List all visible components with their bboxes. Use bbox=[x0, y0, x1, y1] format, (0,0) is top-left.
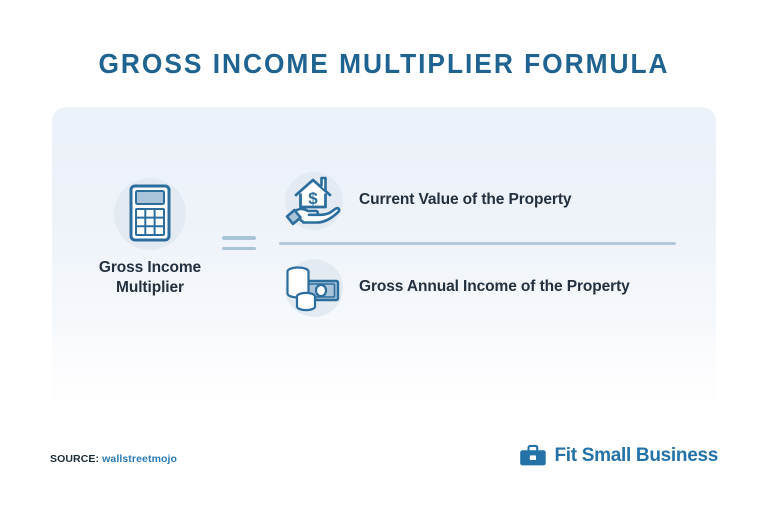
formula-left-term: Gross Income Multiplier bbox=[75, 178, 225, 299]
left-term-label-line2: Multiplier bbox=[75, 278, 225, 298]
denominator-label: Gross Annual Income of the Property bbox=[359, 278, 630, 296]
fraction-numerator: $ Current Value of the Property bbox=[279, 160, 679, 240]
money-coins-icon bbox=[279, 253, 347, 321]
house-in-hand-icon: $ bbox=[279, 166, 347, 234]
fraction-bar bbox=[279, 242, 676, 245]
brand-name: Fit Small Business bbox=[554, 445, 718, 467]
source-label: SOURCE: bbox=[50, 453, 99, 465]
calculator-icon bbox=[114, 178, 186, 250]
equals-bar-top bbox=[222, 236, 256, 240]
source-attribution: SOURCE:wallstreetmojo bbox=[50, 453, 177, 465]
equals-sign bbox=[222, 236, 256, 250]
formula-fraction: $ Current Value of the Property bbox=[279, 160, 679, 327]
briefcase-icon bbox=[518, 443, 548, 469]
formula-left-term-label: Gross Income Multiplier bbox=[75, 258, 225, 299]
numerator-label: Current Value of the Property bbox=[359, 191, 571, 209]
page-title: GROSS INCOME MULTIPLIER FORMULA bbox=[23, 48, 745, 80]
svg-text:$: $ bbox=[308, 189, 318, 208]
brand-logo[interactable]: Fit Small Business bbox=[518, 443, 718, 469]
left-term-label-line1: Gross Income bbox=[75, 258, 225, 278]
fraction-denominator: Gross Annual Income of the Property bbox=[279, 247, 679, 327]
equals-bar-bottom bbox=[222, 247, 256, 251]
source-name[interactable]: wallstreetmojo bbox=[102, 453, 177, 465]
